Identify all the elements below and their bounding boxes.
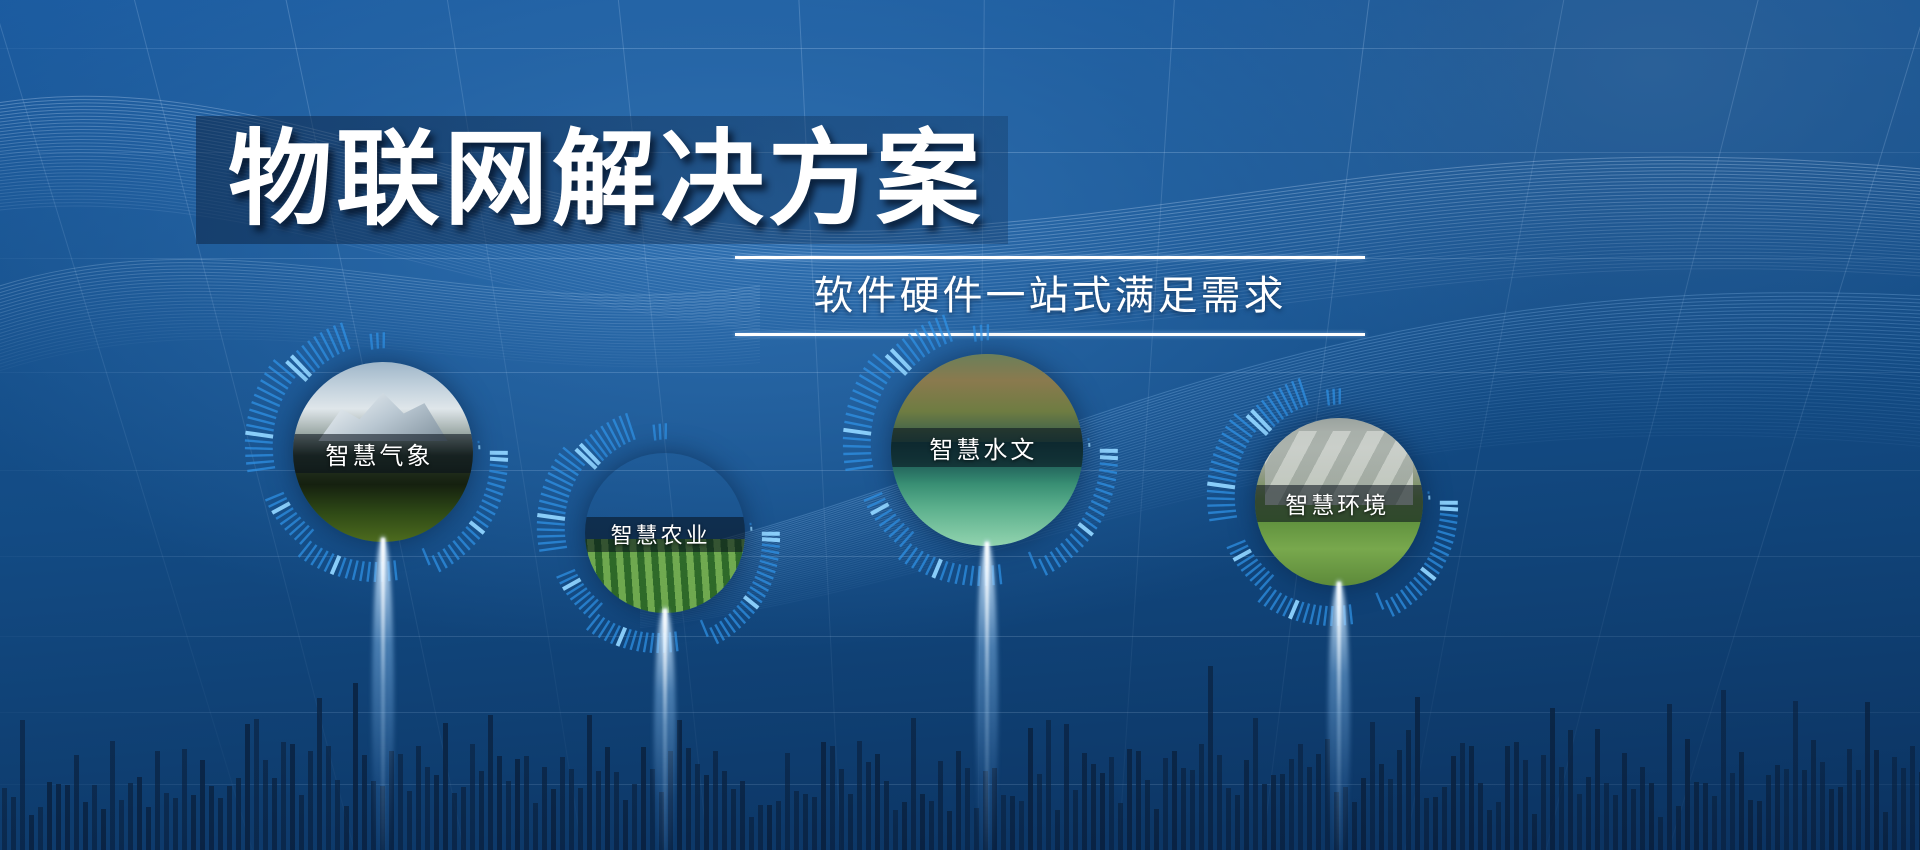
node-label: 智慧气象 <box>325 436 433 471</box>
node-label: 智慧农业 <box>611 518 711 550</box>
light-beam-core <box>985 542 989 850</box>
node-label: 智慧水文 <box>929 430 1037 465</box>
node-image-disc[interactable]: 智慧农业 <box>585 453 745 613</box>
solution-node-2[interactable]: 智慧农业 <box>519 387 811 679</box>
iot-solution-banner: 物联网解决方案 软件硬件一站式满足需求 智慧气象智慧农业智慧水文智慧环境 <box>0 0 1920 850</box>
solution-node-4[interactable]: 智慧环境 <box>1189 352 1489 652</box>
node-label-band: 智慧水文 <box>891 428 1083 467</box>
equalizer-bars <box>0 600 1920 850</box>
node-image-disc[interactable]: 智慧气象 <box>293 362 473 542</box>
solution-node-3[interactable]: 智慧水文 <box>825 288 1149 612</box>
light-beam-core <box>663 609 667 850</box>
node-image-disc[interactable]: 智慧环境 <box>1255 418 1423 586</box>
node-label-band: 智慧农业 <box>585 517 745 553</box>
light-beam-core <box>1337 582 1341 850</box>
solution-node-1[interactable]: 智慧气象 <box>227 296 539 608</box>
light-beam-core <box>381 538 385 850</box>
node-label-band: 智慧环境 <box>1255 485 1423 522</box>
node-label-band: 智慧气象 <box>293 434 473 473</box>
page-title: 物联网解决方案 <box>228 118 1128 242</box>
node-label: 智慧环境 <box>1285 486 1389 520</box>
node-image-disc[interactable]: 智慧水文 <box>891 354 1083 546</box>
